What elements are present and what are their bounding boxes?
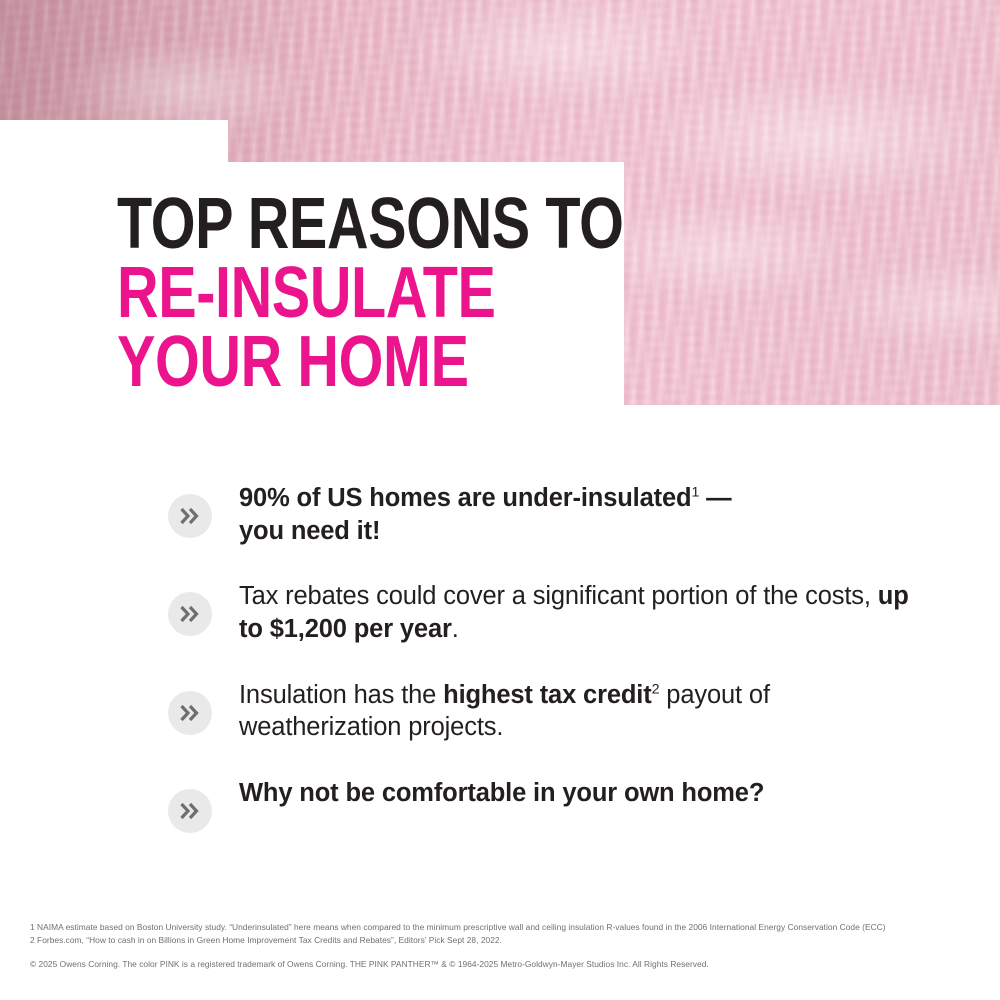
list-item-text: Tax rebates could cover a significant po… [239, 580, 928, 645]
page-title: TOP REASONS TO RE-INSULATE YOUR HOME [117, 190, 750, 397]
bullet-1-rest: you need it! [239, 517, 380, 545]
list-item: Why not be comfortable in your own home? [168, 777, 928, 839]
double-chevron-right-icon [168, 494, 212, 538]
bullet-2-pre: Tax rebates could cover a significant po… [239, 582, 878, 610]
footnote-2: 2 Forbes.com, “How to cash in on Billion… [30, 934, 980, 947]
poster-canvas: TOP REASONS TO RE-INSULATE YOUR HOME 90%… [0, 0, 1000, 1000]
double-chevron-right-icon [168, 691, 212, 735]
list-item: 90% of US homes are under-insulated1 —yo… [168, 482, 928, 547]
list-item-text: Why not be comfortable in your own home? [239, 777, 764, 810]
bullet-3-bold: highest tax credit [443, 681, 651, 709]
footnote-1: 1 NAIMA estimate based on Boston Univers… [30, 921, 980, 934]
bullet-1-dash: — [699, 484, 731, 512]
list-item-text: 90% of US homes are under-insulated1 —yo… [239, 482, 732, 547]
footnotes: 1 NAIMA estimate based on Boston Univers… [30, 921, 980, 947]
list-item: Tax rebates could cover a significant po… [168, 580, 928, 645]
headline-line-3: YOUR HOME [117, 328, 624, 397]
headline-line-2: RE-INSULATE [117, 259, 624, 328]
reasons-list: 90% of US homes are under-insulated1 —yo… [168, 482, 928, 839]
double-chevron-right-icon [168, 789, 212, 833]
bullet-1-bold: 90% of US homes are under-insulated [239, 484, 691, 512]
list-item: Insulation has the highest tax credit2 p… [168, 679, 928, 744]
bullet-3-pre: Insulation has the [239, 681, 443, 709]
double-chevron-right-icon [168, 592, 212, 636]
bullet-2-post: . [452, 615, 459, 643]
copyright-notice: © 2025 Owens Corning. The color PINK is … [30, 958, 709, 971]
list-item-text: Insulation has the highest tax credit2 p… [239, 679, 928, 744]
headline-line-1: TOP REASONS TO [117, 190, 624, 259]
